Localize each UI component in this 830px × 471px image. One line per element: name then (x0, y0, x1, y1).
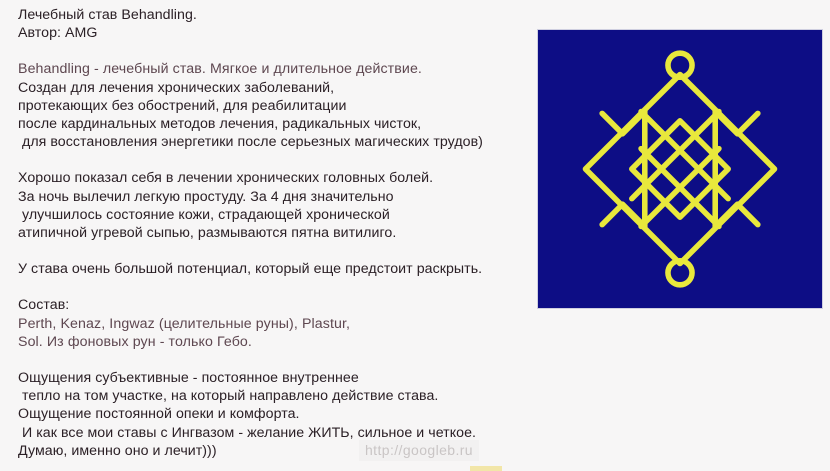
text-line: Perth, Kenaz, Ingwaz (целительные руны),… (18, 315, 533, 333)
composition-heading: Состав: (18, 296, 533, 314)
paragraph-potential: У става очень большой потенциал, который… (18, 260, 533, 278)
sigil-image (538, 30, 822, 308)
paragraph-description: Behandling - лечебный став. Мягкое и дли… (18, 60, 533, 151)
text-line: Хорошо показал себя в лечении хронически… (18, 169, 533, 187)
author-line: Автор: AMG (18, 24, 533, 42)
text-line: после кардинальных методов лечения, ради… (18, 115, 533, 133)
text-line: тепло на том участке, на который направл… (18, 387, 533, 405)
text-line: За ночь вылечил легкую простуду. За 4 дн… (18, 188, 533, 206)
page-title: Лечебный став Behandling. (18, 6, 533, 24)
page-root: Лечебный став Behandling. Автор: AMG Beh… (0, 0, 830, 471)
text-line: для восстановления энергетики после серь… (18, 133, 533, 151)
title-block: Лечебный став Behandling. Автор: AMG (18, 6, 533, 42)
watermark-accent-bar (470, 466, 502, 471)
text-line: улучшилось состояние кожи, страдающей хр… (18, 206, 533, 224)
text-line: протекающих без обострений, для реабилит… (18, 97, 533, 115)
paragraph-composition: Состав: Perth, Kenaz, Ingwaz (целительны… (18, 296, 533, 351)
sigil-svg (538, 30, 822, 308)
text-line: У става очень большой потенциал, который… (18, 260, 533, 278)
text-line: Behandling - лечебный став. Мягкое и дли… (18, 60, 533, 78)
text-line: Ощущение постоянной опеки и комфорта. (18, 405, 533, 423)
article-text-column: Лечебный став Behandling. Автор: AMG Beh… (18, 6, 533, 460)
paragraph-results: Хорошо показал себя в лечении хронически… (18, 169, 533, 242)
watermark-url: http://googleb.ru (359, 440, 479, 461)
text-line: Создан для лечения хронических заболеван… (18, 79, 533, 97)
text-line: Ощущения субъективные - постоянное внутр… (18, 369, 533, 387)
text-line: Sol. Из фоновых рун - только Гебо. (18, 333, 533, 351)
text-line: атипичной угревой сыпью, размываются пят… (18, 224, 533, 242)
